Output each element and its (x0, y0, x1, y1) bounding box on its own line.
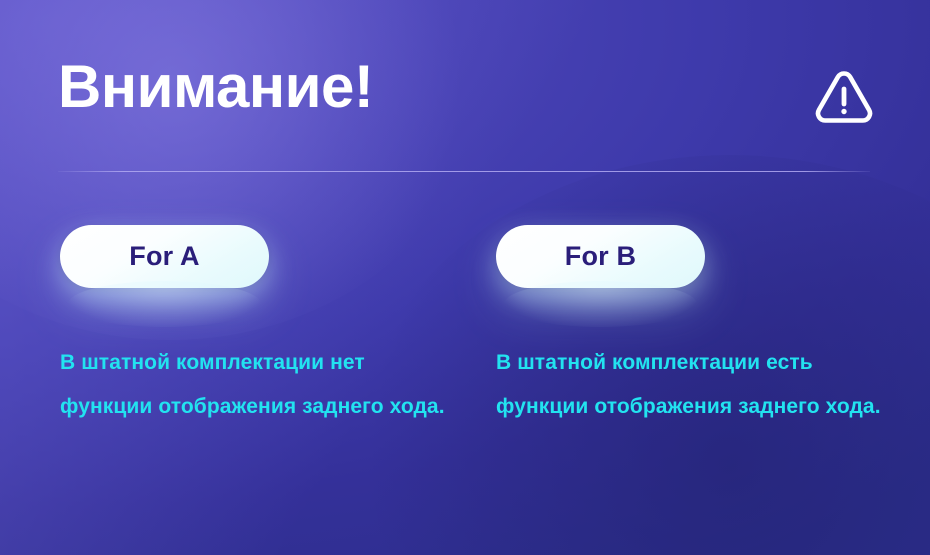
pill-button-for-b[interactable]: For B (496, 225, 705, 288)
warning-slide: Внимание! For A В штатной комплектации н… (0, 0, 930, 555)
page-title: Внимание! (58, 57, 373, 117)
body-text-for-a: В штатной комплектации нет функции отобр… (60, 288, 445, 429)
column-for-b: For B В штатной комплектации есть функци… (496, 225, 896, 429)
pill-label-for-a: For A (129, 241, 200, 272)
warning-triangle-icon (812, 64, 876, 128)
pill-label-for-b: For B (565, 241, 637, 272)
header-divider (58, 171, 870, 172)
column-for-a: For A В штатной комплектации нет функции… (60, 225, 460, 429)
pill-button-for-a[interactable]: For A (60, 225, 269, 288)
body-text-for-b: В штатной комплектации есть функции отоб… (496, 288, 881, 429)
